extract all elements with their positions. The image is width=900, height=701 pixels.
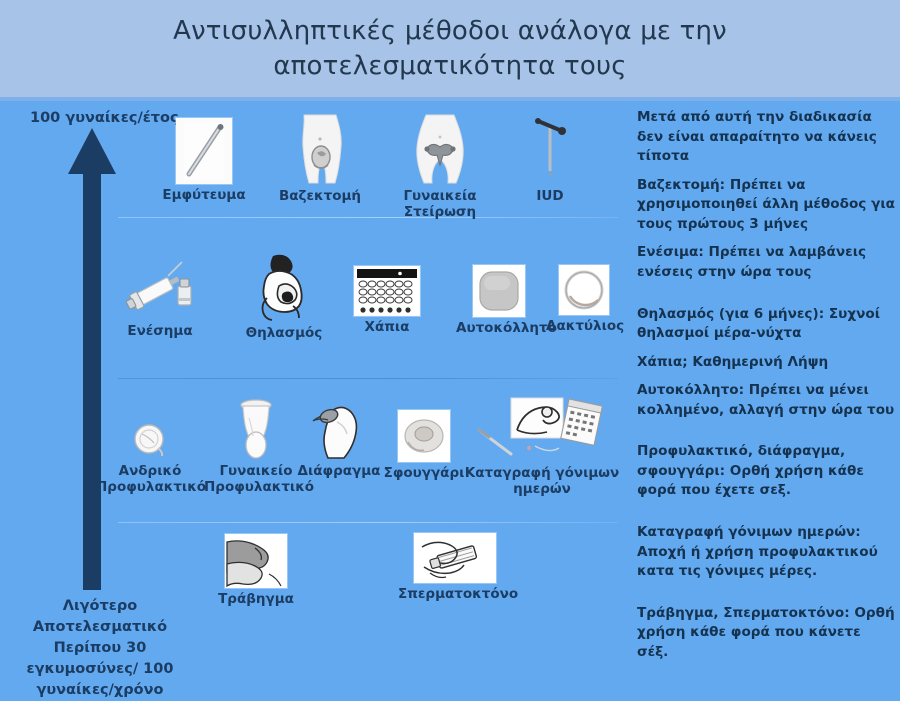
header-underline	[0, 97, 900, 101]
method-label: Δακτύλιος	[546, 318, 622, 334]
method-item-vasectomy[interactable]: Βαζεκτομή	[272, 113, 368, 204]
method-label: Σπερματοκτόνο	[398, 586, 512, 602]
female-sterilization-icon	[404, 113, 476, 185]
method-item-fertility-tracking[interactable]: Καταγραφή γόνιμων ημερών	[462, 396, 622, 497]
notes-column: Μετά από αυτή την διαδικασία δεν είναι α…	[637, 108, 895, 675]
method-item-female-condom[interactable]: Γυναικείο Προφυλακτικό	[204, 398, 308, 495]
method-item-sponge[interactable]: Σφουγγάρι	[382, 410, 466, 481]
method-label: Γυναικεία Στείρωση	[392, 188, 488, 220]
method-item-injection[interactable]: Ενέσημα	[118, 260, 202, 339]
female-condom-icon	[234, 398, 278, 460]
row-divider-1	[118, 217, 618, 218]
injection-icon	[122, 260, 198, 320]
note-after-procedure: Μετά από αυτή την διαδικασία δεν είναι α…	[637, 108, 895, 167]
pill-pack-icon	[354, 266, 420, 316]
note-vasectomy: Βαζεκτομή: Πρέπει να χρησιμοποιηθεί άλλη…	[637, 176, 895, 235]
sponge-icon	[398, 410, 450, 462]
note-barrier-methods: Προφυλακτικό, διάφραγμα, σφουγγάρι: Ορθή…	[637, 442, 895, 501]
method-label: Διάφραγμα	[294, 463, 384, 479]
spermicide-icon	[414, 533, 496, 583]
note-withdrawal: Τράβηγμα, Σπερματοκτόνο: Ορθή χρήση κάθε…	[637, 604, 895, 663]
row-divider-2	[118, 378, 618, 379]
method-label: IUD	[512, 188, 588, 204]
method-label: Ανδρικό Προφυλακτικό	[96, 463, 204, 495]
vaginal-ring-icon	[559, 265, 609, 315]
method-label: Ενέσημα	[118, 323, 202, 339]
method-item-breastfeeding[interactable]: Θηλασμός	[240, 252, 328, 341]
method-label: Σφουγγάρι	[382, 465, 466, 481]
method-item-male-condom[interactable]: Ανδρικό Προφυλακτικό	[96, 420, 204, 495]
method-item-diaphragm[interactable]: Διάφραγμα	[294, 400, 384, 479]
breastfeeding-icon	[249, 252, 319, 322]
note-breastfeeding: Θηλασμός (για 6 μήνες): Συχνοί θηλασμοί …	[637, 305, 895, 344]
effectiveness-arrow-icon	[62, 128, 122, 590]
method-label: Θηλασμός	[240, 325, 328, 341]
method-label: Βαζεκτομή	[272, 188, 368, 204]
infographic-root: Αντισυλληπτικές μέθοδοι ανάλογα με την α…	[0, 0, 900, 667]
note-patch: Αυτοκόλλητο: Πρέπει να μένει κολλημένο, …	[637, 381, 895, 420]
implant-rod-icon	[176, 118, 232, 184]
method-label: Γυναικείο Προφυλακτικό	[204, 463, 308, 495]
page-title: Αντισυλληπτικές μέθοδοι ανάλογα με την α…	[0, 14, 900, 83]
method-item-spermicide[interactable]: Σπερματοκτόνο	[398, 533, 512, 602]
method-item-patch[interactable]: Αυτοκόλλητο	[456, 265, 542, 336]
method-label: Εμφύτευμα	[158, 187, 250, 203]
method-label: Καταγραφή γόνιμων ημερών	[462, 465, 622, 497]
male-condom-icon	[128, 420, 172, 460]
method-item-ring[interactable]: Δακτύλιος	[546, 265, 622, 334]
row-divider-3	[118, 522, 618, 523]
note-fertility-tracking: Καταγραφή γόνιμων ημερών: Αποχή ή χρήση …	[637, 523, 895, 582]
method-label: Αυτοκόλλητο	[456, 320, 542, 336]
withdrawal-icon	[225, 534, 287, 588]
method-label: Τράβηγμα	[208, 591, 304, 607]
method-item-pills[interactable]: Χάπια	[352, 266, 422, 335]
header-band: Αντισυλληπτικές μέθοδοι ανάλογα με την α…	[0, 0, 900, 97]
patch-icon	[473, 265, 525, 317]
method-item-female-sterilization[interactable]: Γυναικεία Στείρωση	[392, 113, 488, 220]
axis-top-label: 100 γυναίκες/έτος	[30, 110, 179, 126]
method-item-withdrawal[interactable]: Τράβηγμα	[208, 534, 304, 607]
note-pills: Χάπια; Καθημερινή Λήψη	[637, 353, 895, 373]
method-label: Χάπια	[352, 319, 422, 335]
diaphragm-icon	[307, 400, 371, 460]
vasectomy-icon	[284, 113, 356, 185]
iud-icon	[522, 113, 578, 185]
method-item-implant[interactable]: Εμφύτευμα	[158, 118, 250, 203]
method-item-iud[interactable]: IUD	[512, 113, 588, 204]
axis-bottom-label: Λιγότερο Αποτελεσματικό Περίπου 30 εγκυμ…	[0, 596, 200, 701]
fertility-tracking-icon	[477, 396, 607, 462]
note-injection: Ενέσιμα: Πρέπει να λαμβάνεις ενέσεις στη…	[637, 243, 895, 282]
